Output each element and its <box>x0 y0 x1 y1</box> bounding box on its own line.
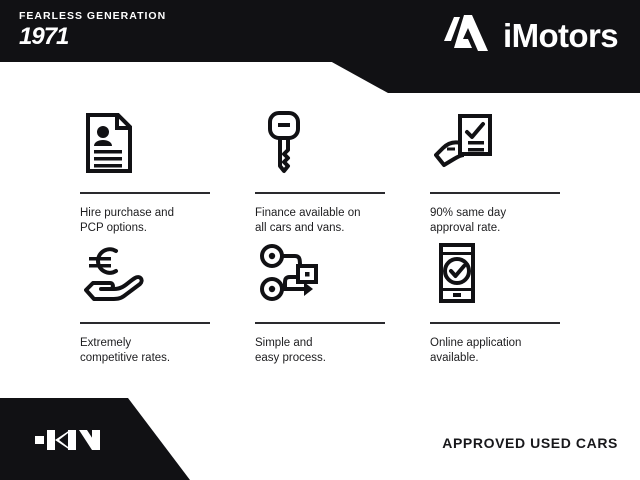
feature-divider <box>430 322 560 324</box>
feature-card-hire-purchase: Hire purchase and PCP options. <box>80 108 255 238</box>
feature-card-competitive-rates: Extremely competitive rates. <box>80 238 255 368</box>
header-angled-wedge <box>300 61 640 93</box>
feature-divider <box>430 192 560 194</box>
feature-divider <box>255 322 385 324</box>
feature-text: 90% same day approval rate. <box>430 206 605 235</box>
hand-checklist-icon <box>430 108 605 178</box>
features-row-2: Extremely competitive rates. Simpl <box>0 238 640 368</box>
feature-card-finance-available: Finance available on all cars and vans. <box>255 108 430 238</box>
header-tagline: FEARLESS GENERATION <box>19 10 166 23</box>
feature-text: Extremely competitive rates. <box>80 336 255 365</box>
feature-card-easy-process: Simple and easy process. <box>255 238 430 368</box>
feature-text: Hire purchase and PCP options. <box>80 206 255 235</box>
feature-divider <box>80 322 210 324</box>
feature-card-online-application: Online application available. <box>430 238 605 368</box>
hand-euro-icon <box>80 238 255 308</box>
car-key-icon <box>255 108 430 178</box>
feature-text: Online application available. <box>430 336 605 365</box>
footer-tagline: APPROVED USED CARS <box>442 435 618 451</box>
fearless-generation-badge: FEARLESS GENERATION 1971 <box>19 10 166 50</box>
features-row-1: Hire purchase and PCP options. Finance a… <box>0 108 640 238</box>
header-year: 1971 <box>19 24 166 50</box>
features-grid: Hire purchase and PCP options. Finance a… <box>0 100 640 385</box>
feature-text: Finance available on all cars and vans. <box>255 206 430 235</box>
document-person-icon <box>80 108 255 178</box>
feature-divider <box>255 192 385 194</box>
feature-card-approval-rate: 90% same day approval rate. <box>430 108 605 238</box>
process-flow-icon <box>255 238 430 308</box>
feature-text: Simple and easy process. <box>255 336 430 365</box>
kia-logo[interactable] <box>32 427 118 458</box>
feature-divider <box>80 192 210 194</box>
mobile-approved-icon <box>430 238 605 308</box>
imotors-wordmark: iMotors <box>503 18 618 54</box>
page-header: FEARLESS GENERATION 1971 iMotors <box>0 0 640 95</box>
imotors-logo[interactable]: iMotors <box>444 13 618 58</box>
page-footer: APPROVED USED CARS <box>0 395 640 480</box>
imotors-arrow-icon <box>444 13 494 58</box>
